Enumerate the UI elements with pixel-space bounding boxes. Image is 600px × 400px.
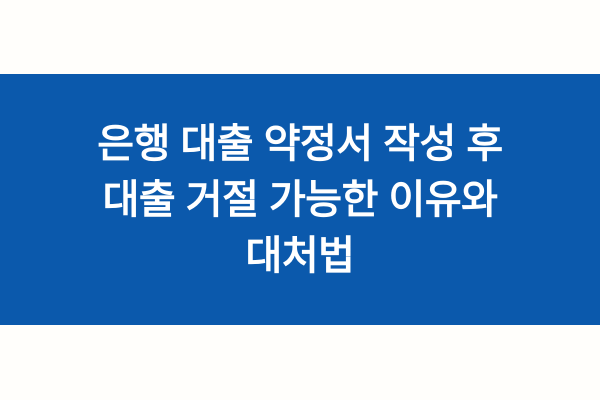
title-banner: 은행 대출 약정서 작성 후 대출 거절 가능한 이유와 대처법 xyxy=(0,74,600,325)
title-line-1: 은행 대출 약정서 작성 후 xyxy=(20,116,580,172)
title-line-3: 대처법 xyxy=(20,228,580,284)
title-block: 은행 대출 약정서 작성 후 대출 거절 가능한 이유와 대처법 xyxy=(0,116,600,284)
thumbnail-canvas: 은행 대출 약정서 작성 후 대출 거절 가능한 이유와 대처법 xyxy=(0,0,600,400)
title-line-2: 대출 거절 가능한 이유와 xyxy=(20,172,580,228)
